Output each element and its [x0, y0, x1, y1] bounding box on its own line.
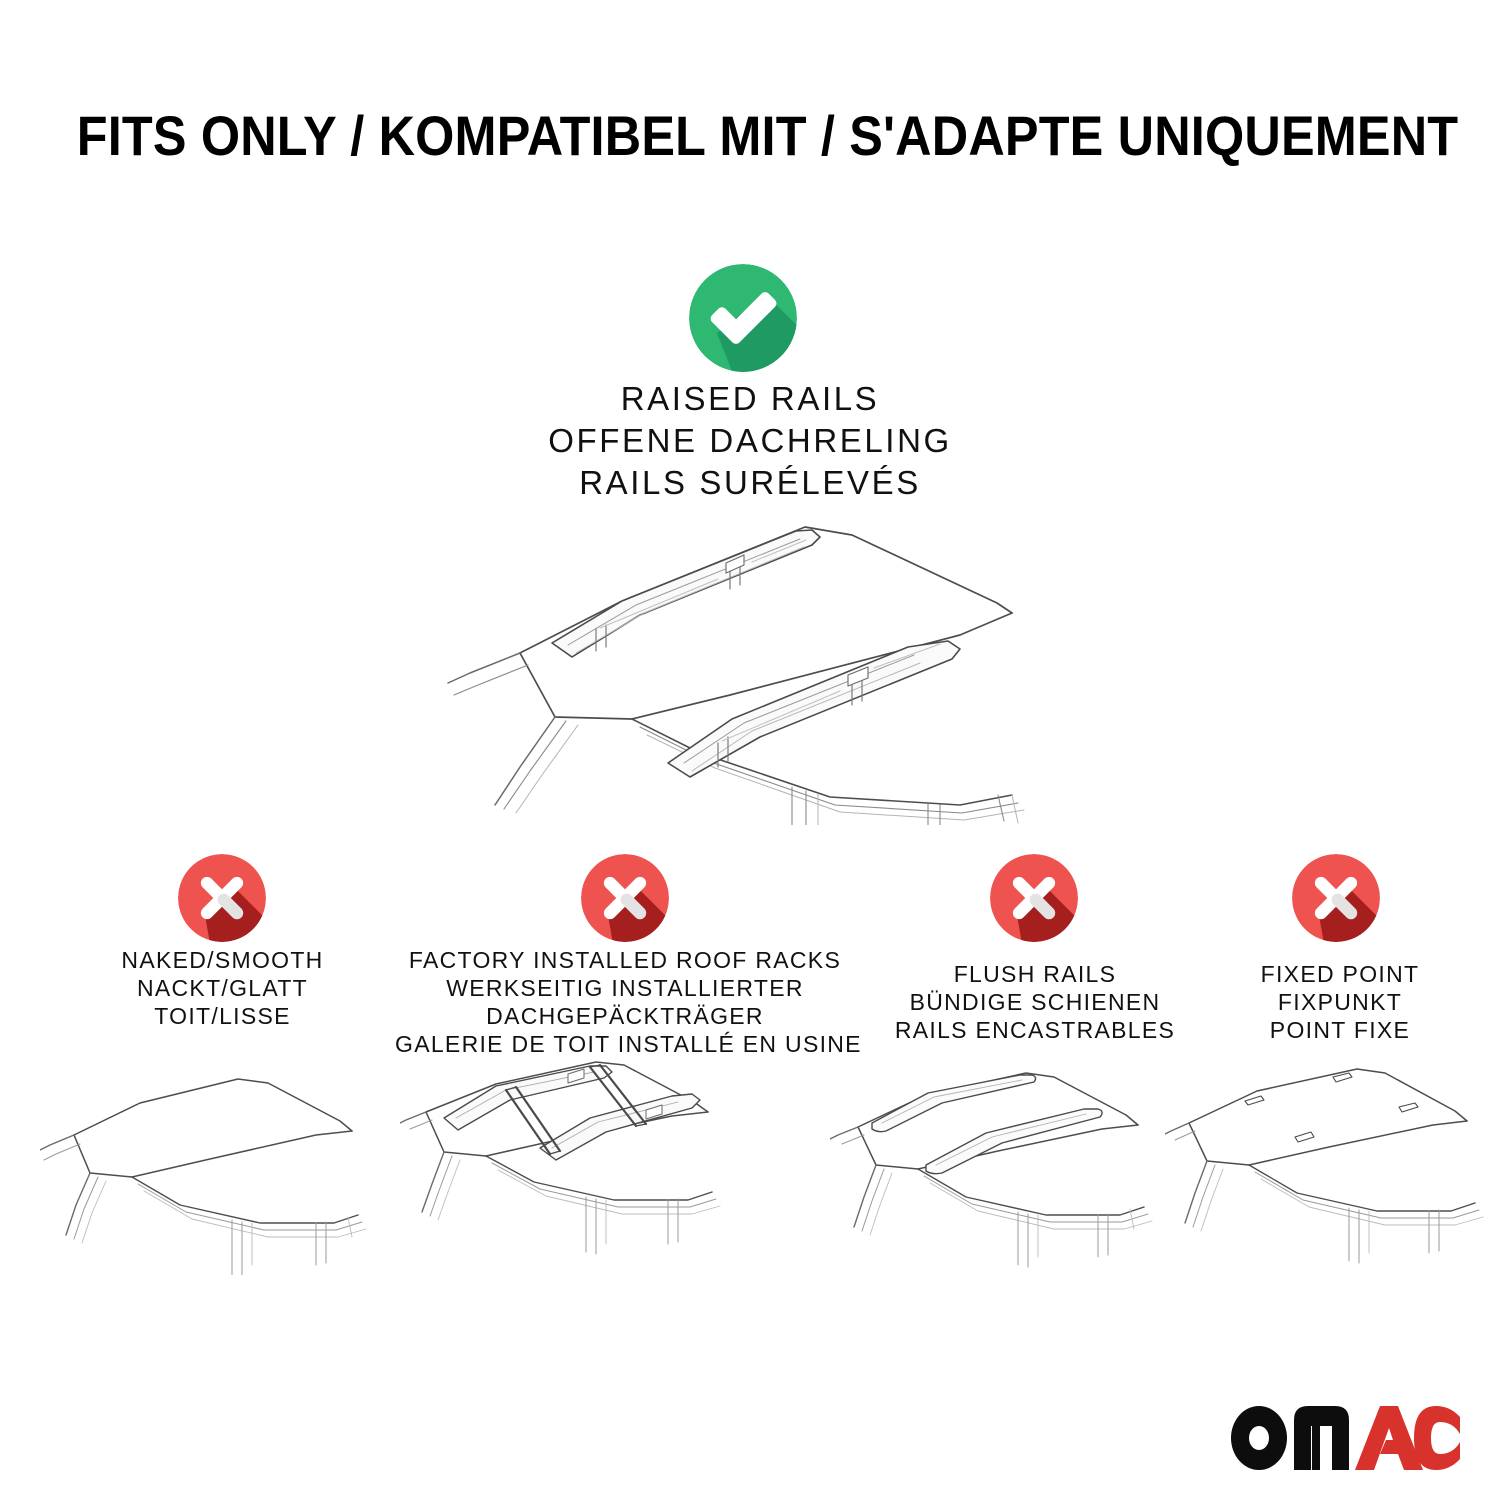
caption-line-fr: POINT FIXE — [1180, 1016, 1500, 1044]
omac-letter-o — [1231, 1406, 1287, 1470]
caption-line-de-1: WERKSEITIG INSTALLIERTER — [395, 974, 855, 1002]
caption-line-fr: GALERIE DE TOIT INSTALLÉ EN USINE — [395, 1030, 855, 1058]
caption-line-de: OFFENE DACHRELING — [450, 420, 1050, 462]
caption-line-de: NACKT/GLATT — [40, 974, 405, 1002]
caption-line-en: FIXED POINT — [1180, 960, 1500, 988]
fixed-point-caption: FIXED POINT FIXPUNKT POINT FIXE — [1180, 960, 1500, 1044]
caption-line-fr: RAILS SURÉLEVÉS — [450, 462, 1050, 504]
car-roof-flush-rails-illustration — [830, 1065, 1190, 1270]
caption-line-fr: RAILS ENCASTRABLES — [855, 1016, 1215, 1044]
factory-installed-roof-racks-caption: FACTORY INSTALLED ROOF RACKS WERKSEITIG … — [395, 946, 855, 1058]
flush-rails-caption: FLUSH RAILS BÜNDIGE SCHIENEN RAILS ENCAS… — [855, 960, 1215, 1044]
caption-line-fr: TOIT/LISSE — [40, 1002, 405, 1030]
omac-letter-c — [1414, 1406, 1460, 1470]
omac-letter-a — [1355, 1406, 1423, 1470]
caption-line-de-2: DACHGEPÄCKTRÄGER — [395, 1002, 855, 1030]
red-cross-circle-icon — [178, 854, 266, 942]
car-roof-factory-racks-illustration — [400, 1060, 770, 1275]
caption-line-en: FLUSH RAILS — [855, 960, 1215, 988]
omac-logo — [1228, 1402, 1460, 1474]
car-roof-raised-rails-illustration — [400, 505, 1100, 825]
page-title-text: FITS ONLY / KOMPATIBEL MIT / S'ADAPTE UN… — [77, 104, 1459, 168]
red-cross-circle-icon — [990, 854, 1078, 942]
caption-line-en: NAKED/SMOOTH — [40, 946, 405, 974]
red-cross-circle-icon — [581, 854, 669, 942]
page-title: FITS ONLY / KOMPATIBEL MIT / S'ADAPTE UN… — [0, 104, 1500, 168]
raised-rails-caption: RAISED RAILS OFFENE DACHRELING RAILS SUR… — [450, 378, 1050, 504]
caption-line-de: FIXPUNKT — [1180, 988, 1500, 1016]
caption-line-en: RAISED RAILS — [450, 378, 1050, 420]
caption-line-de: BÜNDIGE SCHIENEN — [855, 988, 1215, 1016]
fitment-infographic: FITS ONLY / KOMPATIBEL MIT / S'ADAPTE UN… — [0, 0, 1500, 1500]
green-check-circle-icon — [689, 264, 797, 372]
car-roof-fixed-point-illustration — [1165, 1065, 1500, 1270]
omac-letter-m — [1294, 1406, 1349, 1470]
naked-smooth-caption: NAKED/SMOOTH NACKT/GLATT TOIT/LISSE — [40, 946, 405, 1030]
car-roof-naked-smooth-illustration — [40, 1065, 390, 1275]
caption-line-en: FACTORY INSTALLED ROOF RACKS — [395, 946, 855, 974]
red-cross-circle-icon — [1292, 854, 1380, 942]
